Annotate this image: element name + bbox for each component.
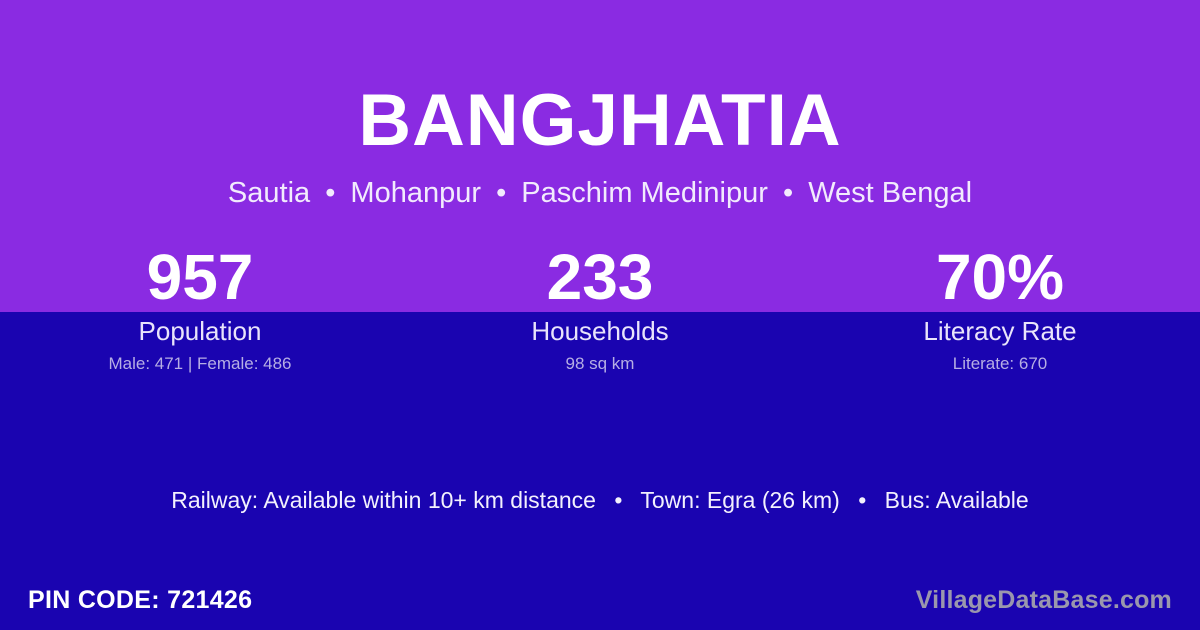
site-brand: VillageDataBase.com [916, 585, 1172, 615]
pin-code: PIN CODE: 721426 [28, 585, 252, 615]
page-title: BANGJHATIA [0, 0, 1200, 157]
stat-literacy-rate-value: 70% [800, 242, 1200, 312]
stat-literacy-rate-detail: Literate: 670 [800, 354, 1200, 374]
breadcrumb-item-village: Sautia [228, 177, 310, 209]
village-info-card: BANGJHATIA Sautia • Mohanpur • Paschim M… [0, 0, 1200, 630]
breadcrumb-item-state: West Bengal [808, 177, 972, 209]
connectivity-separator: • [846, 487, 878, 513]
breadcrumb-item-district: Paschim Medinipur [521, 177, 768, 209]
card-header: BANGJHATIA Sautia • Mohanpur • Paschim M… [0, 0, 1200, 208]
stat-population-label: Population [0, 316, 400, 346]
card-footer: PIN CODE: 721426 VillageDataBase.com [0, 570, 1200, 630]
connectivity-info: Railway: Available within 10+ km distanc… [0, 485, 1200, 515]
connectivity-bus: Bus: Available [885, 487, 1029, 513]
connectivity-separator: • [602, 487, 634, 513]
stat-literacy-rate-label: Literacy Rate [800, 316, 1200, 346]
stat-population-value: 957 [0, 242, 400, 312]
stat-population: 957 Population Male: 471 | Female: 486 [0, 242, 400, 374]
breadcrumb: Sautia • Mohanpur • Paschim Medinipur • … [0, 157, 1200, 208]
stat-literacy-rate: 70% Literacy Rate Literate: 670 [800, 242, 1200, 374]
breadcrumb-separator: • [489, 177, 513, 209]
statistics-row: 957 Population Male: 471 | Female: 486 2… [0, 242, 1200, 374]
stat-households: 233 Households 98 sq km [400, 242, 800, 374]
connectivity-town: Town: Egra (26 km) [640, 487, 839, 513]
stat-households-detail: 98 sq km [400, 354, 800, 374]
stat-households-label: Households [400, 316, 800, 346]
breadcrumb-item-block: Mohanpur [350, 177, 481, 209]
connectivity-railway: Railway: Available within 10+ km distanc… [171, 487, 596, 513]
breadcrumb-separator: • [318, 177, 342, 209]
stat-population-detail: Male: 471 | Female: 486 [0, 354, 400, 374]
breadcrumb-separator: • [776, 177, 800, 209]
stat-households-value: 233 [400, 242, 800, 312]
